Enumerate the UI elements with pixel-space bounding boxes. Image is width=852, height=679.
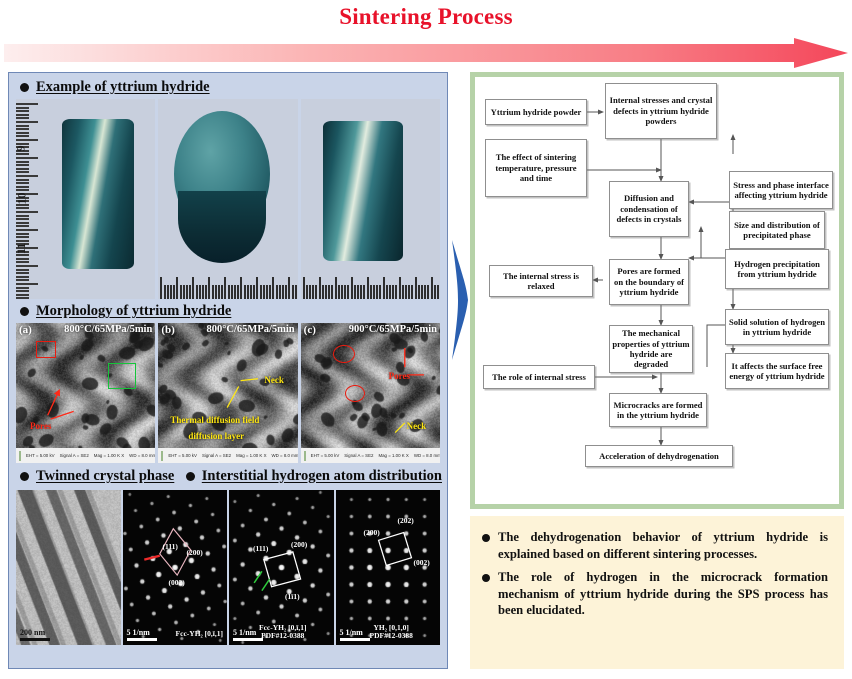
flow-box-diffusion-condensation: Diffusion and condensation of defects in… [609,181,689,237]
sem-info: EHT = 5.00 kV [311,453,340,458]
sem-info-bar: EHT = 5.00 kV Signal A = SE2 Mag = 1.00 … [158,448,297,463]
sem-image-c: (c) 900°C/65MPa/5min Pores Neck EHT = 5.… [301,323,440,463]
index-label: (200) [187,548,203,557]
annotation-neck: Neck [264,375,284,385]
yttrium-hydride-cylinder [62,119,134,269]
bullet-icon [20,307,29,316]
tem-scale-bar: 200 nm [20,628,50,641]
flow-box-surface-free-energy: It affects the surface free energy of yt… [725,353,829,389]
diffraction-index-polygon [123,490,227,640]
annotation-pores: Pores [389,371,410,381]
sem-info: EHT = 5.00 kV [168,453,197,458]
sem-scale-swatch [304,451,306,461]
tem-micrograph [16,490,121,645]
ruler-number: 11 [16,243,29,254]
flow-box-internal-stress-relaxed: The internal stress is relaxed [489,265,593,297]
sem-scale-swatch [19,451,21,461]
section-label: Example of yttrium hydride [36,79,210,96]
transition-arrow-icon [450,240,470,360]
flow-box-pores-formed: Pores are formed on the boundary of yttr… [609,259,689,305]
sem-info: WD = 8.0 mm [129,453,155,458]
sem-image-a: (a) 800°C/65MPa/5min Pores EHT = 5.00 kV… [16,323,155,463]
annotation-diffusion-field: Thermal diffusion field [170,415,259,425]
annotation-arrows [16,323,155,458]
sem-image-row: (a) 800°C/65MPa/5min Pores EHT = 5.00 kV… [16,323,440,463]
sintering-mechanism-flowchart: Yttrium hydride powder Internal stresses… [470,72,844,509]
sem-info: WD = 8.0 mm [414,453,440,458]
section-label: Twinned crystal phase [36,468,174,485]
sample-photo-strip: 9 10 11 [16,99,440,299]
sem-info: Mag = 1.00 K X [94,453,124,458]
annotation-arrows [301,323,440,458]
flow-box-sintering-effect: The effect of sintering temperature, pre… [485,139,587,197]
flow-box-hydrogen-precipitation: Hydrogen precipitation from yttrium hydr… [725,249,829,289]
conclusion-text: The role of hydrogen in the microcrack f… [498,569,828,619]
annotation-diffusion-layer: diffusion layer [188,431,244,441]
flow-box-yttrium-hydride-powder: Yttrium hydride powder [485,99,587,125]
diffraction-pattern-1: (111) (200) (002) 5 1/nm Fcc-YH₂ [0,ī,1] [123,490,228,645]
conclusion-panel: The dehydrogenation behavior of yttrium … [470,516,844,669]
yttrium-hydride-cylinder [323,121,403,261]
diffraction-pattern-3: (200) (202) (002) 5 1/nm YH₂ [0,1,0] PDF… [336,490,441,645]
conclusion-item: The dehydrogenation behavior of yttrium … [482,529,828,562]
section-label: Morphology of yttrium hydride [36,303,231,320]
page-title: Sintering Process [0,4,852,30]
sem-info: Signal A = SE2 [344,453,373,458]
flow-box-role-internal-stress: The role of internal stress [483,365,595,389]
sample-photo-3 [301,99,440,299]
section-header-twinned: Twinned crystal phase [20,468,180,485]
tem-section-headers: Twinned crystal phase Interstitial hydro… [14,466,442,488]
sem-info: EHT = 5.00 kV [26,453,55,458]
sem-info-bar: EHT = 5.00 kV Signal A = SE2 Mag = 1.00 … [301,448,440,463]
ruler-number: 9 [16,146,29,152]
flow-box-acceleration: Acceleration of dehydrogenation [585,445,733,467]
sample-photo-2 [158,99,297,299]
sem-info-bar: EHT = 5.00 kV Signal A = SE2 Mag = 1.00 … [16,448,155,463]
tem-twinned-crystal-image: 200 nm [16,490,121,645]
conclusion-item: The role of hydrogen in the microcrack f… [482,569,828,619]
section-header-interstitial: Interstitial hydrogen atom distribution [186,468,442,485]
ruler-number: 10 [16,193,30,205]
diffraction-pattern-2: (111) (200) (1ī1) 5 1/nm Fcc-YH₂ [0,ī,1]… [229,490,334,645]
ruler-horizontal [301,277,440,299]
index-label: (1ī1) [285,592,300,601]
index-label: (111) [163,542,178,551]
section-header-example: Example of yttrium hydride [20,79,442,96]
tem-image-row: 200 nm (111) (200) (002) 5 1/nm Fcc-YH₂ … [16,490,440,645]
sem-info: Mag = 1.00 K X [378,453,408,458]
index-label: (200) [291,540,307,549]
sem-info: Signal A = SE2 [60,453,89,458]
sem-image-b: (b) 800°C/65MPa/5min Neck Thermal diffus… [158,323,297,463]
ruler-horizontal [158,277,297,299]
diffraction-index-polygon [229,490,333,640]
index-label: (200) [364,528,380,537]
yttrium-hydride-cylinder-body [178,191,266,263]
flow-box-internal-stresses: Internal stresses and crystal defects in… [605,83,717,139]
index-label: (111) [253,544,268,553]
bullet-icon [482,574,490,582]
phase-caption: Fcc-YH₂ [0,ī,1] PDF#12-0388 [259,624,306,641]
sem-info: Mag = 1.00 K X [236,453,266,458]
flow-box-solid-solution: Solid solution of hydrogen in yttrium hy… [725,309,829,345]
index-label: (002) [414,558,430,567]
flow-box-mechanical-properties: The mechanical properties of yttrium hyd… [609,325,693,373]
flow-box-size-distribution: Size and distribution of precipitated ph… [729,211,825,249]
diffraction-scale-bar: 5 1/nm [127,628,157,641]
bullet-icon [482,534,490,542]
sem-info: Signal A = SE2 [202,453,231,458]
bullet-icon [20,83,29,92]
annotation-pores: Pores [30,421,51,431]
sample-photo-1: 9 10 11 [16,99,155,299]
section-label: Interstitial hydrogen atom distribution [202,468,442,485]
flow-box-microcracks: Microcracks are formed in the yttrium hy… [609,393,707,427]
index-label: (202) [398,516,414,525]
conclusion-text: The dehydrogenation behavior of yttrium … [498,529,828,562]
bullet-icon [20,472,29,481]
bullet-icon [186,472,195,481]
left-results-panel: Example of yttrium hydride 9 10 11 Morph… [8,72,448,669]
sem-info: WD = 8.0 mm [272,453,298,458]
process-arrow-icon [4,38,848,68]
section-header-morphology: Morphology of yttrium hydride [20,303,442,320]
annotation-neck: Neck [407,421,427,431]
flow-box-stress-phase-interface: Stress and phase interface affecting ytt… [729,171,833,209]
index-label: (002) [169,578,185,587]
phase-caption: Fcc-YH₂ [0,ī,1] [176,630,223,639]
sem-scale-swatch [161,451,163,461]
phase-caption: YH₂ [0,1,0] PDF#12-0388 [370,624,413,641]
diffraction-scale-bar: 5 1/nm [340,628,370,641]
title-bar: Sintering Process [0,0,852,70]
